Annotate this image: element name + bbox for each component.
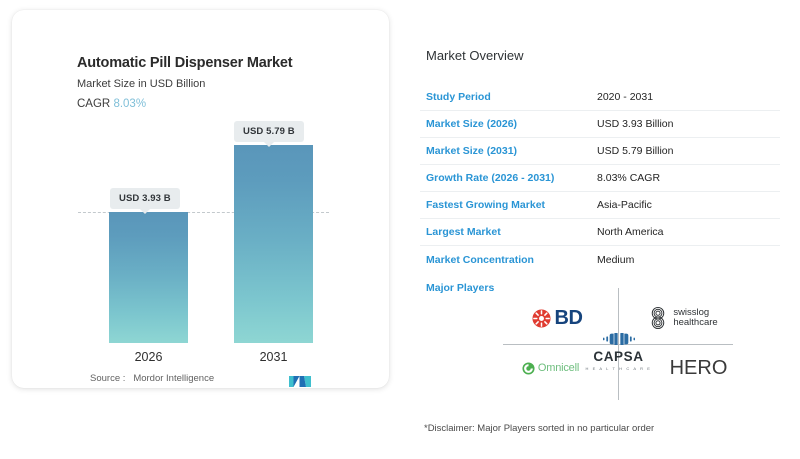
row-value: 8.03% CAGR (597, 172, 660, 184)
row-label: Fastest Growing Market (420, 199, 597, 211)
chart-title: Automatic Pill Dispenser Market (77, 55, 292, 71)
swisslog-line2: healthcare (673, 317, 717, 328)
player-logo-hero: HERO (656, 350, 741, 386)
table-row: Market Concentration Medium (420, 246, 780, 273)
capsa-subtext: H E A L T H C A R E (585, 366, 651, 371)
omnicell-wordmark: Omnicell (538, 362, 579, 374)
omnicell-circle-icon (522, 362, 535, 375)
row-value: 2020 - 2031 (597, 91, 653, 103)
player-logo-capsa: CAPSA H E A L T H C A R E (576, 302, 661, 400)
swisslog-wordmark: swisslog healthcare (673, 308, 717, 329)
row-value: Medium (597, 254, 634, 266)
swisslog-line1: swisslog (673, 307, 709, 318)
bar-value-label-2026: USD 3.93 B (110, 188, 180, 209)
row-value: USD 5.79 Billion (597, 145, 673, 157)
row-value: USD 3.93 Billion (597, 118, 673, 130)
row-label: Market Concentration (420, 254, 597, 266)
table-row: Market Size (2031) USD 5.79 Billion (420, 138, 780, 165)
row-value: Asia-Pacific (597, 199, 652, 211)
source-row: Source : Mordor Intelligence (90, 373, 214, 384)
disclaimer-text: *Disclaimer: Major Players sorted in no … (424, 423, 654, 434)
bar-2026 (109, 212, 188, 343)
page-root: Automatic Pill Dispenser Market Market S… (0, 0, 800, 459)
chart-subtitle: Market Size in USD Billion (77, 78, 205, 90)
table-row: Fastest Growing Market Asia-Pacific (420, 192, 780, 219)
row-label: Largest Market (420, 226, 597, 238)
market-overview-table: Study Period 2020 - 2031 Market Size (20… (420, 84, 780, 273)
row-label: Market Size (2026) (420, 118, 597, 130)
cagr-label: CAGR (77, 98, 110, 110)
row-label: Study Period (420, 91, 597, 103)
x-axis-label-2026: 2026 (109, 350, 188, 364)
capsa-cart-icon (602, 331, 636, 347)
market-size-chart-card: Automatic Pill Dispenser Market Market S… (12, 10, 389, 388)
row-label: Growth Rate (2026 - 2031) (420, 172, 597, 184)
row-label: Market Size (2031) (420, 145, 597, 157)
row-value: North America (597, 226, 664, 238)
cagr-value: 8.03% (113, 98, 146, 110)
source-name: Mordor Intelligence (133, 373, 214, 384)
table-row: Largest Market North America (420, 219, 780, 246)
source-label: Source : (90, 373, 125, 384)
cagr-row: CAGR 8.03% (77, 98, 146, 110)
hero-wordmark: HERO (670, 357, 728, 380)
bd-starburst-icon (532, 309, 551, 328)
table-row: Market Size (2026) USD 3.93 Billion (420, 111, 780, 138)
bar-2031 (234, 145, 313, 343)
major-players-logo-grid: BD swisslog healthcare (503, 288, 733, 400)
bar-chart-plot: USD 3.93 B USD 5.79 B 2026 2031 (12, 120, 389, 350)
bar-value-label-2031: USD 5.79 B (234, 121, 304, 142)
mordor-intelligence-logo (289, 373, 311, 387)
table-row: Study Period 2020 - 2031 (420, 84, 780, 111)
market-overview-heading: Market Overview (426, 48, 524, 63)
major-players-label: Major Players (426, 282, 494, 294)
capsa-wordmark: CAPSA (593, 349, 643, 364)
x-axis-label-2031: 2031 (234, 350, 313, 364)
table-row: Growth Rate (2026 - 2031) 8.03% CAGR (420, 165, 780, 192)
